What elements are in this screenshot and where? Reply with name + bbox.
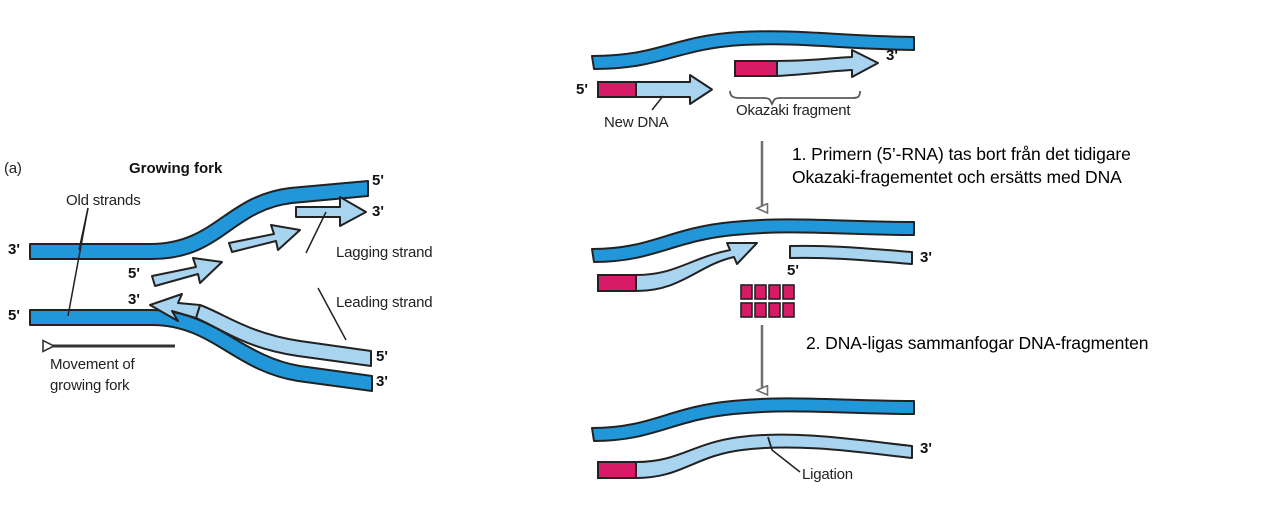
lagging-strand-leader: [306, 212, 326, 253]
new-dna-label: New DNA: [604, 114, 668, 131]
diagram-graphics: [0, 0, 1270, 522]
step1-annotation: 1. Primern (5’-RNA) tas bort från det ti…: [792, 143, 1131, 189]
template-strand-bottom: [592, 398, 914, 441]
prime-bottom-three: 3': [920, 440, 932, 457]
panel-a-label: (a): [4, 160, 22, 177]
primer-top-left: [598, 82, 636, 97]
new-dna-arrow-top-left: [636, 75, 712, 104]
prime-a-bottom-left: 5': [8, 307, 20, 324]
ligated-new-strand: [636, 435, 912, 478]
panel-middle-graphics: [592, 219, 914, 317]
panel-bottom-graphics: [592, 398, 914, 478]
figure-title: Growing fork: [129, 160, 222, 177]
panel-top-graphics: [592, 31, 914, 110]
ligation-leader: [772, 450, 800, 472]
ligation-label: Ligation: [802, 466, 853, 483]
prime-a-top-left: 3': [8, 241, 20, 258]
prime-middle-five: 5': [787, 262, 799, 279]
prime-a-bottom-right-inner: 5': [376, 348, 388, 365]
old-strands-label: Old strands: [66, 192, 141, 209]
old-strands-leader-lower: [68, 208, 88, 316]
prime-a-fork-upper: 5': [128, 265, 140, 282]
prime-a-bottom-right-outer: 3': [376, 373, 388, 390]
step2-annotation: 2. DNA-ligas sammanfogar DNA-fragmenten: [806, 332, 1148, 355]
movement-label-line2: growing fork: [50, 377, 129, 394]
okazaki-fragment-label: Okazaki fragment: [736, 102, 850, 119]
primer-okazaki: [735, 61, 777, 76]
lagging-arrow-1: [152, 258, 222, 286]
downstream-fragment-middle: [790, 246, 912, 264]
primer-bottom: [598, 462, 636, 478]
prime-top-left: 5': [576, 81, 588, 98]
prime-a-top-right-inner: 3': [372, 203, 384, 220]
prime-middle-three: 3': [920, 249, 932, 266]
lagging-arrow-2: [229, 225, 300, 252]
okazaki-arrow: [777, 50, 878, 77]
prime-a-fork-lower: 3': [128, 291, 140, 308]
dna-replication-figure: (a) Growing fork Old strands Lagging str…: [0, 0, 1270, 522]
excised-rna-nucleotides: [741, 285, 794, 317]
prime-a-top-right-outer: 5': [372, 172, 384, 189]
new-dna-leader: [652, 96, 663, 110]
leading-strand-label: Leading strand: [336, 294, 432, 311]
primer-middle: [598, 275, 636, 291]
movement-label-line1: Movement of: [50, 356, 135, 373]
prime-top-right: 3': [886, 47, 898, 64]
lagging-strand-label: Lagging strand: [336, 244, 432, 261]
